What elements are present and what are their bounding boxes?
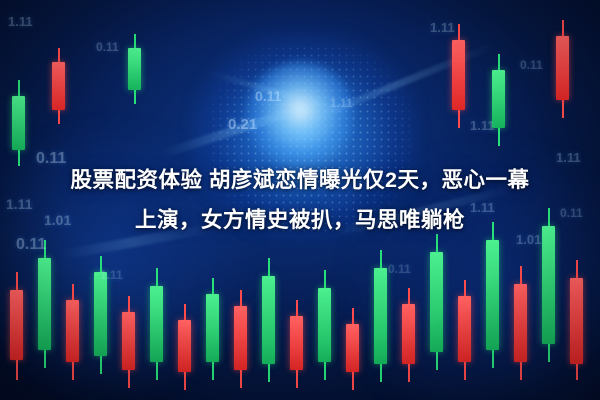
candlestick-body — [402, 304, 415, 364]
candlestick-body — [178, 320, 191, 372]
candlestick-body — [542, 226, 555, 344]
headline-line-2: 上演，女方情史被扒，马思唯躺枪 — [14, 200, 586, 240]
banner-image: 1.110.111.110.110.110.211.110.111.111.11… — [0, 0, 600, 400]
headline-text: 股票配资体验 胡彦斌恋情曝光仅2天，恶心一幕 上演，女方情史被扒，马思唯躺枪 — [0, 160, 600, 240]
candlestick-body — [290, 316, 303, 370]
candlestick-body — [430, 252, 443, 352]
candlestick-body — [452, 40, 465, 110]
candlestick-body — [150, 286, 163, 362]
candlestick-body — [12, 96, 25, 150]
headline-line-1: 股票配资体验 胡彦斌恋情曝光仅2天，恶心一幕 — [14, 160, 586, 200]
candlestick-body — [66, 300, 79, 362]
candlestick-body — [492, 70, 505, 128]
candlestick-body — [38, 258, 51, 350]
candlestick-body — [570, 278, 583, 364]
candlestick-body — [52, 62, 65, 110]
candlestick-body — [374, 268, 387, 364]
candlestick-body — [94, 272, 107, 356]
candlestick-body — [556, 36, 569, 100]
candlestick-body — [206, 294, 219, 362]
candlestick-body — [514, 284, 527, 362]
candlestick-body — [346, 324, 359, 372]
candlestick-body — [128, 48, 141, 90]
candlestick-body — [262, 276, 275, 364]
candlestick-body — [234, 306, 247, 370]
candlestick-body — [318, 288, 331, 362]
